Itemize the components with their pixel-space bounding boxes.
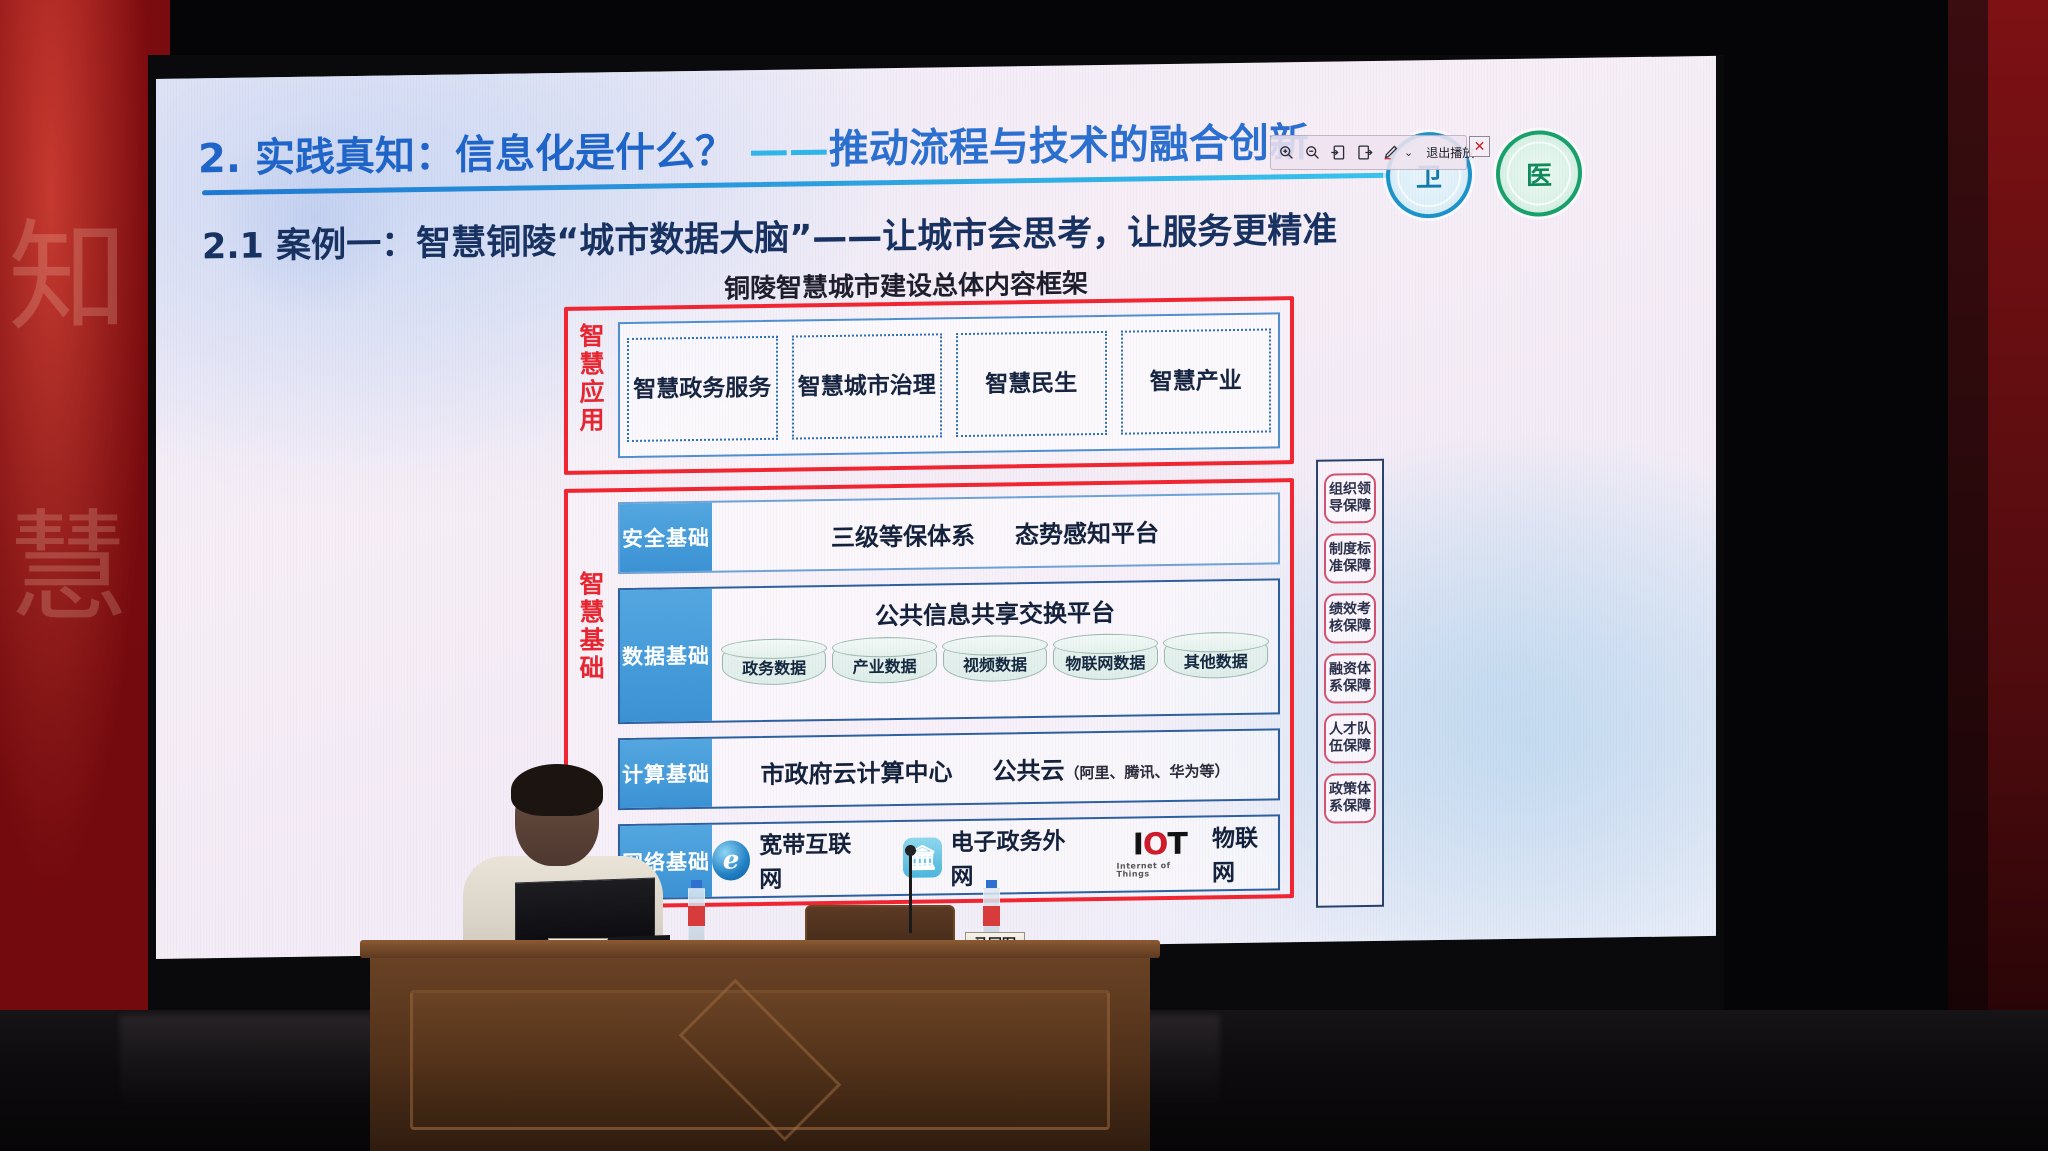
next-page-icon[interactable] (1356, 143, 1373, 162)
podium-panel (410, 990, 1110, 1130)
infrastructure-row-network: 网络基础 e 宽带互联网 🏛 电子政务外网 (618, 814, 1280, 900)
laptop (515, 878, 655, 945)
network-item-label: 电子政务外网 (951, 821, 1083, 891)
guarantee-item: 融资体系保障 (1324, 653, 1376, 704)
close-button[interactable]: ✕ (1469, 136, 1490, 157)
iot-logo-icon: IOT Internet of Things (1117, 829, 1204, 878)
stage-backdrop-left: 知 慧 (0, 0, 170, 1010)
compute-item-group: 公共云（阿里、腾讯、华为等） (992, 748, 1229, 787)
stage-backdrop-right-inner (1948, 0, 1988, 1010)
data-store: 视频数据 (943, 635, 1047, 683)
row-tag-security: 安全基础 (620, 503, 712, 572)
application-cell: 智慧城市治理 (792, 333, 943, 439)
security-item: 态势感知平台 (1015, 513, 1159, 550)
data-store-label: 其他数据 (1184, 648, 1248, 673)
guarantee-item: 绩效考核保障 (1324, 593, 1376, 644)
water-bottle-left (688, 880, 705, 942)
guarantee-column: 组织领导保障 制度标准保障 绩效考核保障 融资体系保障 人才队伍保障 政策体系保… (1316, 459, 1384, 908)
data-store-strip: 政务数据 产业数据 视频数据 物联网数据 其他数据 (712, 631, 1278, 685)
exit-playback-button[interactable]: 退出播放 (1426, 144, 1474, 161)
presentation-toolbar[interactable]: ⌄ 退出播放 ✕ (1270, 135, 1467, 170)
application-cell: 智慧产业 (1121, 328, 1272, 434)
network-item-label: 宽带互联网 (759, 824, 869, 894)
applications-row: 智慧政务服务 智慧城市治理 智慧民生 智慧产业 (618, 312, 1280, 458)
infrastructure-row-compute: 计算基础 市政府云计算中心 公共云（阿里、腾讯、华为等） (618, 728, 1280, 810)
iot-logo-subtext: Internet of Things (1117, 861, 1204, 878)
guarantee-item: 制度标准保障 (1324, 533, 1376, 584)
pen-icon[interactable] (1382, 143, 1399, 162)
projection-screen: 2. 实践真知：信息化是什么？ ——推动流程与技术的融合创新 2.1 案例一：智… (148, 55, 1724, 1010)
compute-item: 市政府云计算中心 (760, 752, 952, 790)
data-store: 产业数据 (832, 636, 936, 684)
previous-page-icon[interactable] (1330, 143, 1347, 162)
infrastructure-row-data: 数据基础 公共信息共享交换平台 政务数据 产业数据 视频数据 物联网数据 其他数… (618, 578, 1280, 724)
backdrop-glyph-2: 慧 (8, 470, 128, 644)
application-cell: 智慧民生 (956, 331, 1107, 437)
compute-note: （阿里、腾讯、华为等） (1064, 762, 1229, 782)
zoom-out-icon[interactable] (1304, 143, 1321, 162)
compute-item: 公共云 (992, 756, 1064, 785)
guarantee-item: 政策体系保障 (1324, 773, 1376, 824)
title-dash: —— (749, 127, 829, 174)
zoom-in-icon[interactable] (1278, 143, 1295, 162)
network-item-label: 物联网 (1212, 818, 1278, 887)
title-index: 2. (198, 136, 241, 183)
data-store-label: 产业数据 (853, 653, 917, 678)
iot-logo-text: IOT (1133, 830, 1187, 861)
ie-browser-icon: e (712, 840, 750, 881)
applications-side-label: 智慧应用 (572, 322, 612, 435)
stage-backdrop-right (1988, 0, 2048, 1010)
data-store-label: 物联网数据 (1065, 649, 1145, 674)
data-store-label: 视频数据 (963, 651, 1027, 676)
podium (370, 950, 1150, 1151)
guarantee-item: 组织领导保障 (1324, 473, 1376, 524)
seal-two-glyph: 医 (1500, 134, 1578, 213)
data-store: 其他数据 (1164, 632, 1268, 680)
data-store: 物联网数据 (1053, 633, 1157, 681)
infrastructure-row-security: 安全基础 三级等保体系 态势感知平台 (618, 492, 1280, 574)
presentation-slide: 2. 实践真知：信息化是什么？ ——推动流程与技术的融合创新 2.1 案例一：智… (156, 56, 1716, 959)
backdrop-glyph-1: 知 (8, 180, 128, 354)
security-item: 三级等保体系 (831, 515, 975, 552)
infrastructure-side-label: 智慧基础 (572, 570, 612, 683)
title-main: 实践真知：信息化是什么？ (255, 128, 735, 181)
row-tag-data: 数据基础 (620, 589, 712, 722)
data-store-label: 政务数据 (742, 654, 806, 679)
network-item-broadband: e 宽带互联网 (712, 824, 869, 894)
data-store: 政务数据 (722, 638, 826, 686)
chevron-down-icon[interactable]: ⌄ (1404, 146, 1413, 159)
auditorium-stage: 知 慧 2. 实践真知：信息化是什么？ ——推动流程与技术的融合创新 2.1 案… (0, 0, 2048, 1151)
organization-seal-two: 医 (1496, 130, 1582, 217)
data-platform-heading: 公共信息共享交换平台 (875, 593, 1115, 632)
title-tail: 推动流程与技术的融合创新 (829, 120, 1309, 173)
application-cell: 智慧政务服务 (627, 336, 778, 442)
guarantee-item: 人才队伍保障 (1324, 713, 1376, 764)
network-item-iot: IOT Internet of Things 物联网 (1117, 818, 1278, 888)
